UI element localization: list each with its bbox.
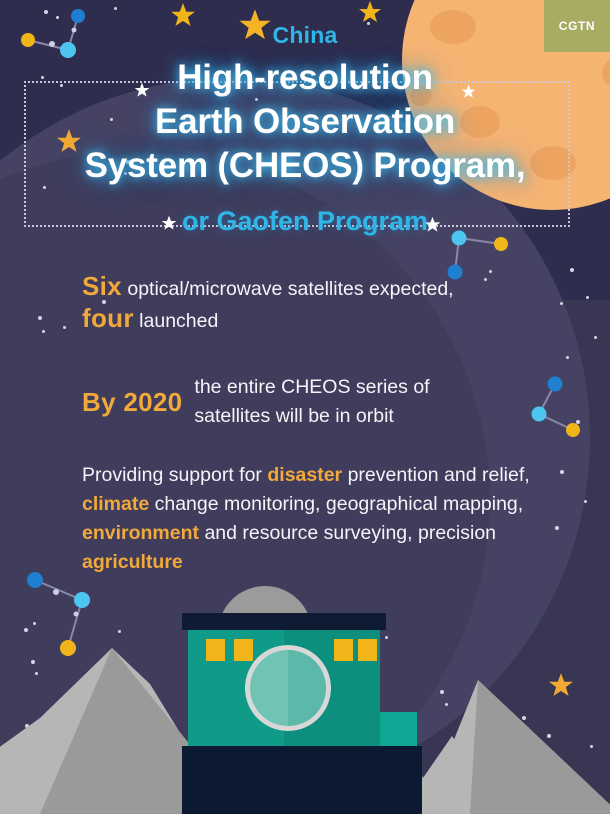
fact-satellites-text-2: launched	[134, 310, 219, 332]
support-seg-1: Providing support for	[82, 464, 267, 486]
star-dot	[38, 316, 42, 320]
support-highlight-disaster: disaster	[267, 464, 342, 486]
support-seg-3: change monitoring, geographical mapping,	[149, 493, 523, 515]
page-title: High-resolution Earth Observation System…	[0, 56, 610, 188]
star-dot	[586, 296, 589, 299]
fact-satellites-text-1: optical/microwave satellites expected,	[122, 278, 454, 300]
title-line-2: Earth Observation	[0, 100, 610, 144]
star-dot	[63, 326, 66, 329]
support-seg-2: prevention and relief,	[342, 464, 530, 486]
fact-by-2020-line-1: the entire CHEOS series of	[194, 376, 429, 398]
star-dot	[555, 526, 559, 530]
building-window	[358, 639, 377, 661]
support-seg-4: and resource surveying, precision	[199, 522, 496, 544]
support-highlight-climate: climate	[82, 493, 149, 515]
star-dot	[584, 500, 587, 503]
fact-support: Providing support for disaster preventio…	[82, 461, 552, 577]
infographic-poster: CGTN	[0, 0, 610, 814]
eyebrow-label: China	[0, 22, 610, 49]
fact-by-2020-line-2: satellites will be in orbit	[194, 405, 393, 427]
building-window	[334, 639, 353, 661]
support-highlight-agriculture: agriculture	[82, 551, 183, 573]
page-subtitle: or Gaofen Program	[0, 206, 610, 237]
building-window	[206, 639, 225, 661]
fact-satellites-lead-2: four	[82, 303, 134, 333]
mountain-peak	[470, 680, 610, 814]
fact-satellites: Six optical/microwave satellites expecte…	[82, 272, 572, 336]
title-line-3: System (CHEOS) Program,	[0, 144, 610, 188]
fact-by-2020-lead: By 2020	[82, 373, 182, 431]
support-highlight-environment: environment	[82, 522, 199, 544]
building-base	[182, 746, 422, 814]
star-dot	[560, 470, 564, 474]
title-line-1: High-resolution	[0, 56, 610, 100]
star-dot	[594, 336, 597, 339]
fact-by-2020: By 2020 the entire CHEOS series of satel…	[82, 373, 552, 431]
building-side-wing	[380, 712, 417, 746]
fact-satellites-lead: Six	[82, 271, 122, 301]
star-dot	[566, 356, 569, 359]
star-dot	[42, 330, 45, 333]
building-roof	[182, 613, 386, 630]
building-window	[234, 639, 253, 661]
